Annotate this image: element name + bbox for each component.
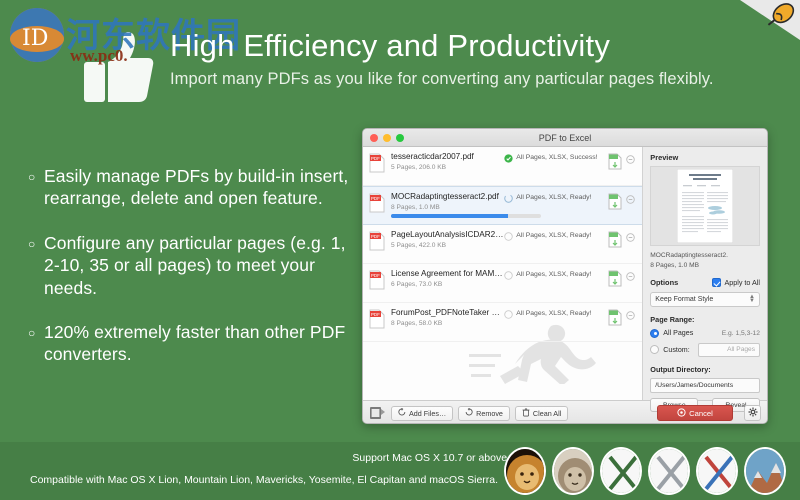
maximize-button[interactable]	[396, 134, 404, 142]
add-files-label: Add Files…	[409, 409, 446, 418]
os-icon-lion	[504, 447, 546, 495]
output-directory-input[interactable]: /Users/James/Documents	[650, 378, 760, 393]
status-text: All Pages, XLSX, Ready!	[516, 232, 591, 239]
radio-custom[interactable]: Custom:	[650, 345, 689, 354]
all-pages-label: All Pages	[663, 329, 693, 337]
window-title: PDF to Excel	[363, 129, 767, 147]
os-icon-mavericks	[600, 447, 642, 495]
settings-button[interactable]	[744, 405, 761, 421]
page-subtitle: Import many PDFs as you like for convert…	[170, 70, 780, 89]
app-window: PDF to Excel	[362, 128, 768, 424]
file-list[interactable]: PDF tesseracticdar2007.pdf 5 Pages, 206.…	[363, 147, 643, 400]
format-style-select[interactable]: Keep Format Style ▲▼	[650, 292, 760, 307]
radio-icon[interactable]	[650, 345, 659, 354]
undo-icon	[465, 408, 473, 418]
app-logo-icon	[369, 404, 386, 423]
xlsx-output-icon[interactable]	[608, 153, 622, 172]
status-text: All Pages, XLSX, Success!	[516, 154, 597, 161]
file-meta: ForumPost_PDFNoteTaker Sheet1… 8 Pages, …	[385, 308, 504, 327]
support-text: Support Mac OS X 10.7 or above.	[352, 452, 510, 464]
table-row[interactable]: PDF License Agreement for MAMP and… 6 Pa…	[363, 264, 642, 303]
os-icon-row	[504, 447, 786, 495]
svg-text:PDF: PDF	[371, 196, 380, 201]
file-meta: PageLayoutAnalysisICDAR2.pdf 5 Pages, 42…	[385, 230, 504, 249]
file-size: 8 Pages, 58.0 KB	[391, 320, 504, 327]
checkbox-icon[interactable]	[712, 278, 721, 287]
footer: Support Mac OS X 10.7 or above. Compatib…	[0, 442, 800, 500]
xlsx-output-icon[interactable]	[608, 231, 622, 250]
file-size: 8 Pages, 1.0 MB	[391, 204, 504, 211]
file-name: tesseracticdar2007.pdf	[391, 152, 504, 161]
compatibility-text: Compatible with Mac OS X Lion, Mountain …	[30, 474, 498, 486]
progress-bar-fill	[391, 214, 508, 218]
options-row: Options Apply to All	[650, 278, 760, 287]
apply-to-all-checkbox[interactable]: Apply to All	[712, 278, 760, 287]
os-icon-el-capitan	[696, 447, 738, 495]
file-status: All Pages, XLSX, Ready!	[504, 192, 608, 205]
file-name: ForumPost_PDFNoteTaker Sheet1…	[391, 308, 504, 317]
status-text: All Pages, XLSX, Ready!	[516, 271, 591, 278]
clean-all-label: Clean All	[533, 409, 561, 418]
list-item-label: Easily manage PDFs by build-in insert, r…	[44, 165, 366, 210]
status-text: All Pages, XLSX, Ready!	[516, 310, 591, 317]
svg-text:PDF: PDF	[371, 312, 380, 317]
pdf-file-icon: PDF	[369, 153, 385, 173]
remove-row-button[interactable]	[626, 233, 636, 244]
remove-row-button[interactable]	[626, 272, 636, 283]
bullet-marker-icon: ○	[26, 232, 44, 299]
stop-icon	[677, 408, 686, 419]
table-row[interactable]: PDF tesseracticdar2007.pdf 5 Pages, 206.…	[363, 147, 642, 186]
file-size: 5 Pages, 206.0 KB	[391, 164, 504, 171]
list-item: ○ Configure any particular pages (e.g. 1…	[26, 232, 366, 299]
apply-to-all-label: Apply to All	[724, 278, 760, 287]
file-name: PageLayoutAnalysisICDAR2.pdf	[391, 230, 504, 239]
list-item-label: 120% extremely faster than other PDF con…	[44, 321, 366, 366]
add-files-button[interactable]: Add Files…	[391, 406, 453, 421]
progress-bar	[391, 214, 541, 218]
document-page-icon	[677, 169, 733, 243]
file-status: All Pages, XLSX, Ready!	[504, 230, 608, 243]
custom-range-row: Custom: All Pages	[650, 343, 760, 357]
add-icon	[398, 408, 406, 418]
output-directory-label: Output Directory:	[650, 365, 760, 374]
trash-icon	[522, 408, 530, 419]
file-meta: License Agreement for MAMP and… 6 Pages,…	[385, 269, 504, 288]
status-ready-icon	[504, 310, 513, 321]
status-text: All Pages, XLSX, Ready!	[516, 194, 591, 201]
preview-caption: MOCRadaptingtesseract2. 8 Pages, 1.0 MB	[650, 251, 760, 271]
file-status: All Pages, XLSX, Success!	[504, 152, 608, 165]
minimize-button[interactable]	[383, 134, 391, 142]
watermark-logo-icon: ID	[8, 6, 66, 64]
file-status: All Pages, XLSX, Ready!	[504, 269, 608, 282]
chevron-updown-icon: ▲▼	[749, 295, 755, 303]
svg-text:PDF: PDF	[371, 156, 380, 161]
list-item: ○ 120% extremely faster than other PDF c…	[26, 321, 366, 366]
radio-all-pages[interactable]: All Pages	[650, 329, 693, 338]
status-success-icon	[504, 154, 513, 165]
remove-row-button[interactable]	[626, 195, 636, 206]
preview-options-panel: Preview	[643, 147, 767, 400]
status-ready-icon	[504, 271, 513, 282]
pdf-file-icon: PDF	[369, 231, 385, 251]
bullet-marker-icon: ○	[26, 165, 44, 210]
header: High Efficiency and Productivity Import …	[170, 28, 780, 89]
list-item: ○ Easily manage PDFs by build-in insert,…	[26, 165, 366, 210]
svg-text:ID: ID	[22, 26, 48, 51]
xlsx-output-icon[interactable]	[608, 193, 622, 212]
cancel-button[interactable]: Cancel	[657, 405, 733, 421]
status-spinner-icon	[504, 194, 513, 205]
pdf-file-icon: PDF	[369, 193, 385, 213]
page-title: High Efficiency and Productivity	[170, 28, 780, 64]
bullet-marker-icon: ○	[26, 321, 44, 366]
preview-thumbnail[interactable]	[650, 166, 760, 246]
feature-list: ○ Easily manage PDFs by build-in insert,…	[26, 165, 366, 388]
file-size: 5 Pages, 422.0 KB	[391, 242, 504, 249]
svg-text:PDF: PDF	[371, 273, 380, 278]
table-row[interactable]: PDF PageLayoutAnalysisICDAR2.pdf 5 Pages…	[363, 225, 642, 264]
custom-label: Custom:	[663, 346, 689, 354]
table-row[interactable]: PDF MOCRadaptingtesseract2.pdf 8 Pages, …	[363, 186, 642, 225]
remove-row-button[interactable]	[626, 311, 636, 322]
pdf-file-icon: PDF	[369, 270, 385, 290]
clean-all-button[interactable]: Clean All	[515, 406, 568, 421]
pdf-file-icon: PDF	[369, 309, 385, 329]
table-row[interactable]: PDF ForumPost_PDFNoteTaker Sheet1… 8 Pag…	[363, 303, 642, 342]
file-size: 6 Pages, 73.0 KB	[391, 281, 504, 288]
preview-label: Preview	[650, 153, 760, 162]
window-body: PDF tesseracticdar2007.pdf 5 Pages, 206.…	[363, 147, 767, 400]
gear-icon	[748, 407, 758, 419]
page-range-hint: E.g. 1,5,3-12	[722, 330, 760, 337]
file-meta: MOCRadaptingtesseract2.pdf 8 Pages, 1.0 …	[385, 192, 504, 218]
os-icon-mountain-lion	[552, 447, 594, 495]
radio-icon[interactable]	[650, 329, 659, 338]
format-style-value: Keep Format Style	[655, 296, 713, 303]
xlsx-output-icon[interactable]	[608, 309, 622, 328]
file-meta: tesseracticdar2007.pdf 5 Pages, 206.0 KB	[385, 152, 504, 171]
custom-range-input[interactable]: All Pages	[698, 343, 760, 357]
preview-file-name: MOCRadaptingtesseract2.	[650, 251, 760, 261]
window-titlebar[interactable]: PDF to Excel	[363, 129, 767, 147]
thumbs-up-icon	[78, 28, 156, 106]
window-controls[interactable]	[370, 134, 404, 142]
remove-row-button[interactable]	[626, 155, 636, 166]
svg-text:PDF: PDF	[371, 234, 380, 239]
os-icon-yosemite	[648, 447, 690, 495]
os-icon-sierra	[744, 447, 786, 495]
all-pages-row: All Pages E.g. 1,5,3-12	[650, 329, 760, 338]
remove-label: Remove	[476, 409, 503, 418]
file-status: All Pages, XLSX, Ready!	[504, 308, 608, 321]
list-item-label: Configure any particular pages (e.g. 1, …	[44, 232, 366, 299]
remove-button[interactable]: Remove	[458, 406, 510, 421]
cancel-label: Cancel	[689, 409, 713, 418]
page-range-label: Page Range:	[650, 315, 760, 324]
file-name: License Agreement for MAMP and…	[391, 269, 504, 278]
close-button[interactable]	[370, 134, 378, 142]
file-name: MOCRadaptingtesseract2.pdf	[391, 192, 504, 201]
xlsx-output-icon[interactable]	[608, 270, 622, 289]
preview-file-size: 8 Pages, 1.0 MB	[650, 261, 760, 271]
options-label: Options	[650, 278, 678, 287]
status-ready-icon	[504, 232, 513, 243]
